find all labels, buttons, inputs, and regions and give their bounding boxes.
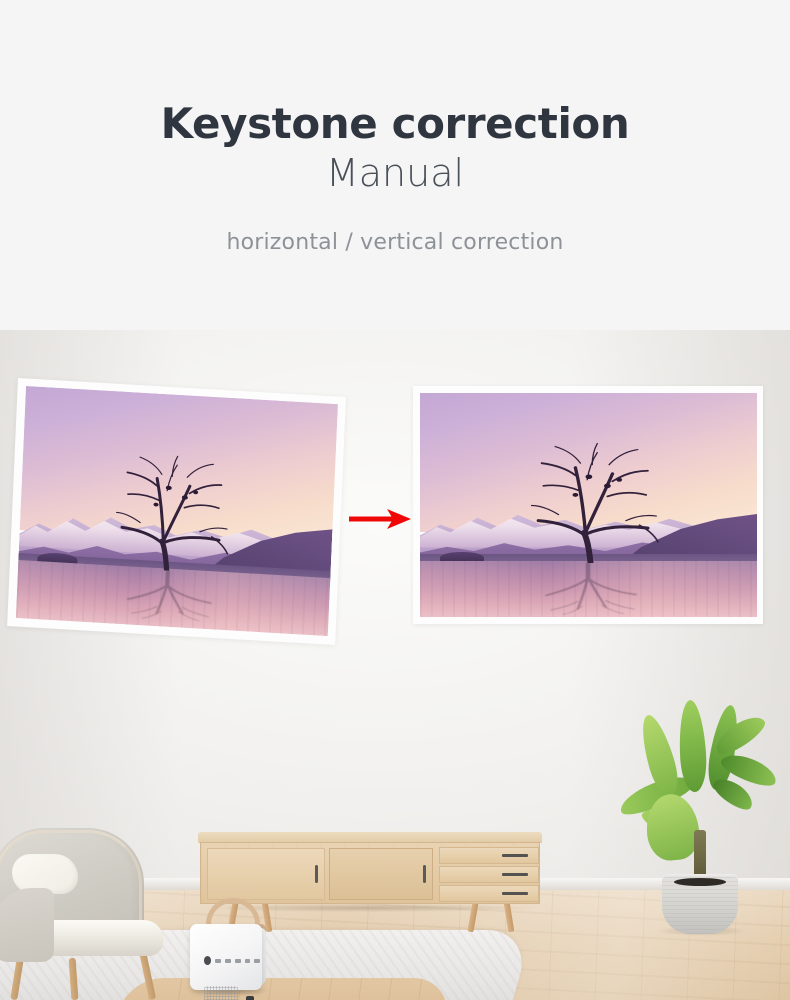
console-drawer	[439, 885, 539, 902]
armchair-arm	[0, 888, 54, 962]
drawer-handle	[502, 892, 528, 895]
page-subtitle: Manual	[0, 152, 790, 196]
console-drawers	[439, 847, 539, 903]
potted-plant	[620, 698, 780, 930]
projector-badge	[246, 996, 254, 1000]
drawer-handle	[502, 854, 528, 857]
port-icon	[215, 959, 221, 963]
distorted-projection-photo	[16, 386, 338, 636]
tree-reflection-icon	[97, 567, 237, 626]
lens-icon	[204, 956, 211, 965]
photo-scene	[420, 393, 757, 617]
console-sliding-door	[329, 848, 433, 900]
armchair	[0, 828, 182, 1000]
console-sliding-door	[207, 848, 325, 900]
drawer-handle	[502, 873, 528, 876]
projector	[182, 898, 278, 994]
console-body	[200, 842, 540, 904]
armchair-leg	[139, 950, 156, 1000]
tree-reflection-icon	[514, 563, 662, 617]
armchair-leg	[69, 958, 79, 1000]
port-icon	[254, 959, 260, 963]
port-icon	[235, 959, 241, 963]
correction-arrow-icon	[349, 508, 411, 530]
page-root: Keystone correction Manual horizontal / …	[0, 0, 790, 1000]
page-caption: horizontal / vertical correction	[0, 230, 790, 255]
pot-soil	[674, 878, 726, 886]
tree-icon	[508, 442, 677, 563]
header: Keystone correction Manual horizontal / …	[0, 0, 790, 330]
console-drawer	[439, 847, 539, 864]
projector-vent	[204, 986, 238, 1000]
console-drawer	[439, 866, 539, 883]
door-handle	[315, 865, 318, 883]
projector-ports	[204, 956, 260, 965]
page-title: Keystone correction	[0, 100, 790, 148]
port-icon	[225, 959, 231, 963]
tree-icon	[93, 451, 248, 576]
corrected-projection-photo	[420, 393, 757, 617]
port-icon	[245, 959, 251, 963]
photo-scene	[16, 386, 338, 636]
door-handle	[423, 865, 426, 883]
distorted-projection	[18, 378, 346, 626]
plant-leaf	[635, 712, 683, 800]
projector-body	[190, 924, 262, 990]
